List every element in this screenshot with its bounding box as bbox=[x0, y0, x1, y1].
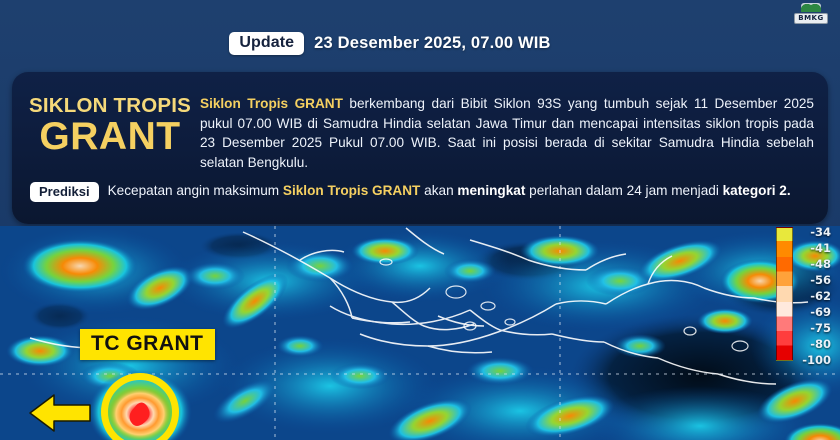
prediction-cyclone-name: Siklon Tropis GRANT bbox=[283, 183, 420, 198]
description-paragraph: Siklon Tropis GRANT berkembang dari Bibi… bbox=[200, 94, 814, 172]
arrow-left-icon bbox=[28, 392, 92, 434]
update-row: Update 23 Desember 2025, 07.00 WIB bbox=[0, 32, 840, 55]
colorbar-tick-4: -62 bbox=[810, 291, 831, 302]
colorbar-gradient bbox=[776, 227, 793, 361]
prediction-badge: Prediksi bbox=[30, 182, 99, 202]
colorbar-tick-0: -34 bbox=[810, 227, 831, 238]
colorbar-legend: -34 -41 -48 -56 -62 -69 -75 -80 -100 bbox=[776, 227, 832, 361]
colorbar-tick-3: -56 bbox=[810, 275, 831, 286]
colorbar-tick-7: -80 bbox=[810, 339, 831, 350]
panel-body-block: Siklon Tropis GRANT berkembang dari Bibi… bbox=[200, 72, 828, 224]
prediction-category: kategori 2. bbox=[723, 183, 791, 198]
infographic-root: BMKG Update 23 Desember 2025, 07.00 WIB … bbox=[0, 0, 840, 440]
colorbar-ticks: -34 -41 -48 -56 -62 -69 -75 -80 -100 bbox=[797, 227, 831, 361]
colorbar-tick-5: -69 bbox=[810, 307, 831, 318]
update-badge: Update bbox=[229, 32, 304, 55]
prediction-seg-1: Kecepatan angin maksimum bbox=[108, 183, 283, 198]
page-title-main: GRANT bbox=[26, 116, 194, 157]
cyclone-name-highlight: Siklon Tropis GRANT bbox=[200, 96, 343, 111]
bmkg-emblem-icon bbox=[801, 3, 821, 12]
update-datetime: 23 Desember 2025, 07.00 WIB bbox=[314, 34, 551, 53]
colorbar-tick-1: -41 bbox=[810, 243, 831, 254]
movement-arrow-west-icon bbox=[28, 392, 92, 434]
prediction-seg-3: akan bbox=[420, 183, 457, 198]
prediction-text: Kecepatan angin maksimum Siklon Tropis G… bbox=[108, 181, 814, 201]
colorbar-tick-2: -48 bbox=[810, 259, 831, 270]
tc-grant-label: TC GRANT bbox=[80, 329, 215, 360]
colorbar-tick-8: -100 bbox=[802, 355, 831, 366]
prediction-seg-5: perlahan dalam 24 jam menjadi bbox=[525, 183, 722, 198]
info-panel: SIKLON TROPIS GRANT Siklon Tropis GRANT … bbox=[12, 72, 828, 224]
bmkg-logo: BMKG bbox=[788, 2, 834, 24]
page-title-small: SIKLON TROPIS bbox=[26, 94, 194, 117]
bmkg-wordmark: BMKG bbox=[794, 13, 827, 24]
prediction-emphasis-increase: meningkat bbox=[457, 183, 525, 198]
prediction-row: Prediksi Kecepatan angin maksimum Siklon… bbox=[30, 181, 814, 202]
colorbar-tick-6: -75 bbox=[810, 323, 831, 334]
